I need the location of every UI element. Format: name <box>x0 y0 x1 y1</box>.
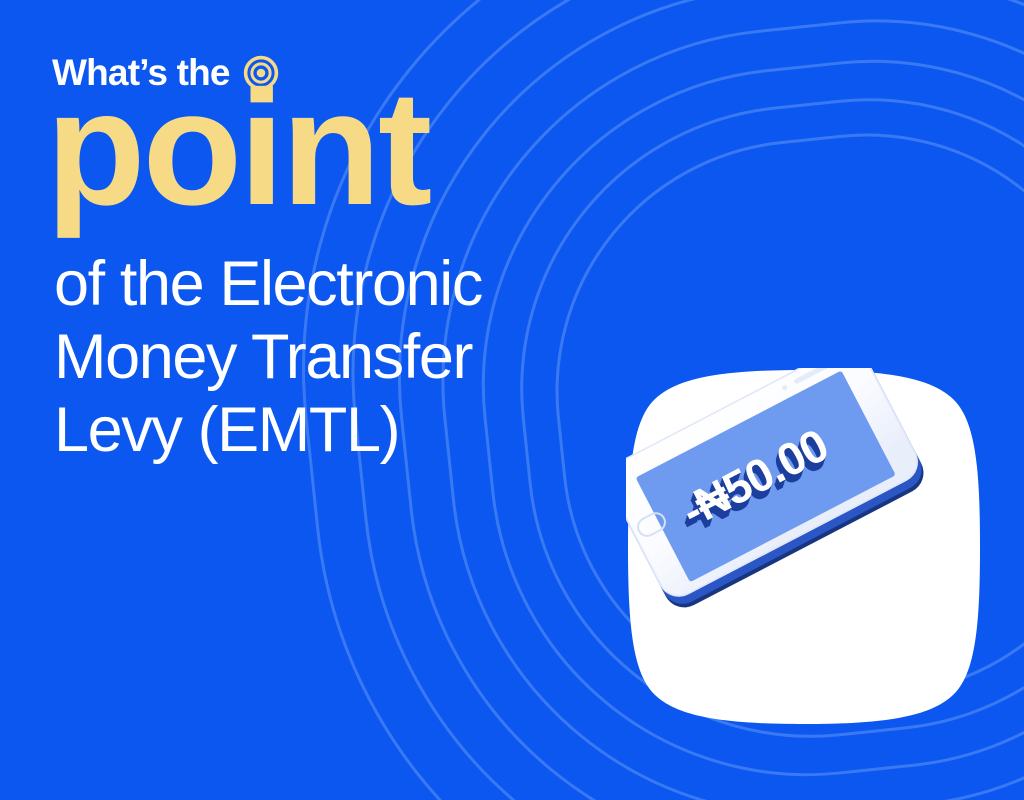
tilted-smartphone: -₦50.00 -₦50.00 -₦50.00 -₦50.00 -₦50.00 … <box>626 368 982 726</box>
illustration-container: -₦50.00 -₦50.00 -₦50.00 -₦50.00 -₦50.00 … <box>626 368 982 726</box>
headline-word-point: point <box>46 88 692 209</box>
page-title: of the Electronic Money Transfer Levy (E… <box>54 248 694 467</box>
headline-block: What’s the point <box>52 50 692 209</box>
page-title-line-2: Money Transfer <box>54 321 694 394</box>
page-title-line-3: Levy (EMTL) <box>54 394 694 467</box>
poster-canvas: What’s the point of the Electronic Money… <box>0 0 1024 800</box>
page-title-line-1: of the Electronic <box>54 248 694 321</box>
